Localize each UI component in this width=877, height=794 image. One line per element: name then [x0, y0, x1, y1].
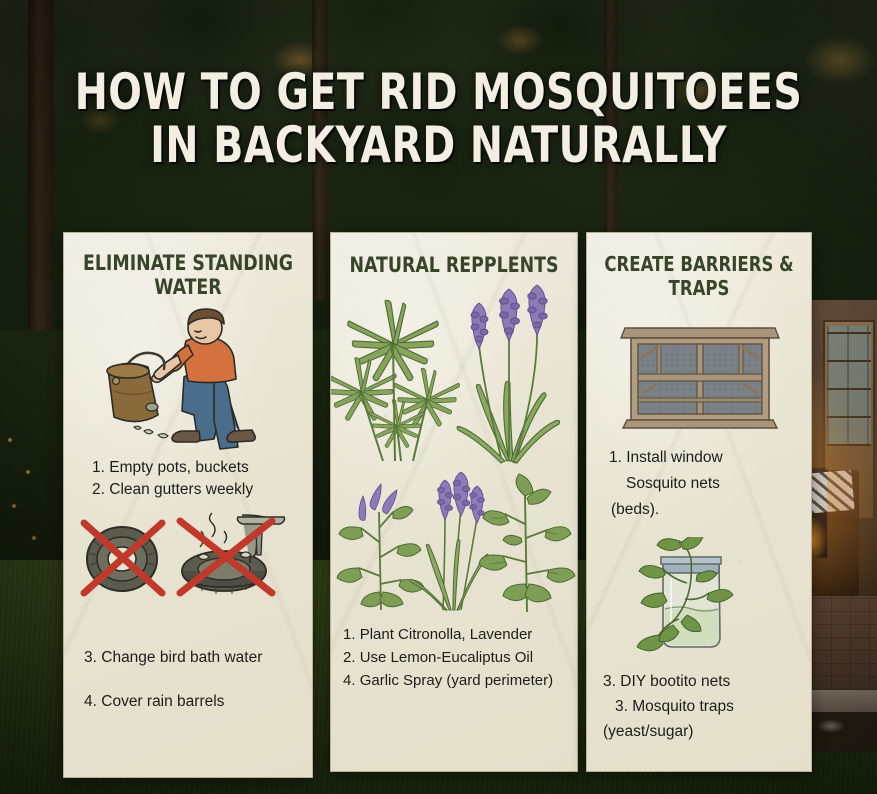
list-item: 1. Plant Citronolla, Lavender [343, 623, 577, 646]
panel-2-header: NATURAL REPPLENTS [341, 253, 567, 277]
list-number: 2. [343, 646, 356, 669]
list-item: 2. Clean gutters weekly [92, 479, 312, 501]
citronella-and-lavender-illustration [331, 283, 578, 468]
list-text: (yeast/sugar) [603, 723, 693, 740]
list-number: 4. [343, 669, 356, 692]
list-number: 1. [92, 457, 105, 479]
list-text: Mosquito traps [632, 698, 734, 715]
list-item: Sosquito nets [609, 471, 811, 497]
panel-1-list-bottom: 3. Change bird bath water 4. Cover rain … [84, 636, 312, 724]
list-text: Sosquito nets [626, 475, 720, 492]
list-text: Install window [626, 449, 723, 466]
list-number: 3. [84, 636, 97, 680]
list-text: Change bird bath water [101, 649, 262, 666]
panel-3-list-top: 1. Install window Sosquito nets (beds). [609, 445, 811, 523]
basil-lavender-mint-illustration [331, 472, 578, 617]
list-number: 3. [615, 694, 628, 719]
list-item: 3. DIY bootito nets [603, 669, 811, 694]
panel-3-header: CREATE BARRIERS & TRAPS [596, 252, 802, 300]
tagline: Live Mosquito-Free! [587, 770, 811, 772]
list-text: Garlic Spray (yard perimeter) [360, 672, 553, 689]
list-number: 1. [343, 623, 356, 646]
list-text: Clean gutters weekly [109, 481, 253, 498]
panel-3-list-bottom: 3. DIY bootito nets 3. Mosquito traps (y… [603, 669, 811, 744]
man-pouring-bucket-illustration [64, 303, 313, 453]
list-text: DIY bootito nets [620, 673, 730, 690]
list-number: 4. [84, 680, 97, 724]
list-item: (yeast/sugar) [603, 719, 811, 744]
list-item: 3. Mosquito traps [603, 694, 811, 719]
list-item: (beds). [609, 497, 811, 523]
crossed-out-tires-illustration [64, 507, 313, 612]
list-item: 2. Use Lemon-Eucaliptus Oil [343, 646, 577, 669]
list-item: 3. Change bird bath water [84, 636, 312, 680]
list-item: 4. Garlic Spray (yard perimeter) [343, 669, 577, 692]
panel-eliminate-standing-water: ELIMINATE STANDING WATER [63, 232, 313, 778]
list-text: Plant Citronolla, Lavender [360, 626, 533, 643]
window-screen-illustration [587, 314, 812, 429]
panel-1-list-top: 1. Empty pots, buckets 2. Clean gutters … [92, 457, 312, 501]
mason-jar-mint-trap-illustration [587, 537, 812, 657]
list-item: 1. Empty pots, buckets [92, 457, 312, 479]
list-number: 3. [603, 669, 616, 694]
list-number: 1. [609, 445, 622, 471]
list-item: 1. Install window [609, 445, 811, 471]
list-text: Use Lemon-Eucaliptus Oil [360, 649, 533, 666]
list-text: (beds). [611, 501, 659, 518]
panel-1-header: ELIMINATE STANDING WATER [74, 251, 302, 299]
panel-natural-repplents: NATURAL REPPLENTS [330, 232, 578, 772]
panel-2-list-bottom: 1. Plant Citronolla, Lavender 2. Use Lem… [343, 623, 577, 692]
list-item: 4. Cover rain barrels [84, 680, 312, 724]
panel-create-barriers-and-traps: CREATE BARRIERS & TRAPS [586, 232, 812, 772]
list-text: Empty pots, buckets [109, 459, 249, 476]
list-number: 2. [92, 479, 105, 501]
list-text: Cover rain barrels [101, 693, 224, 710]
